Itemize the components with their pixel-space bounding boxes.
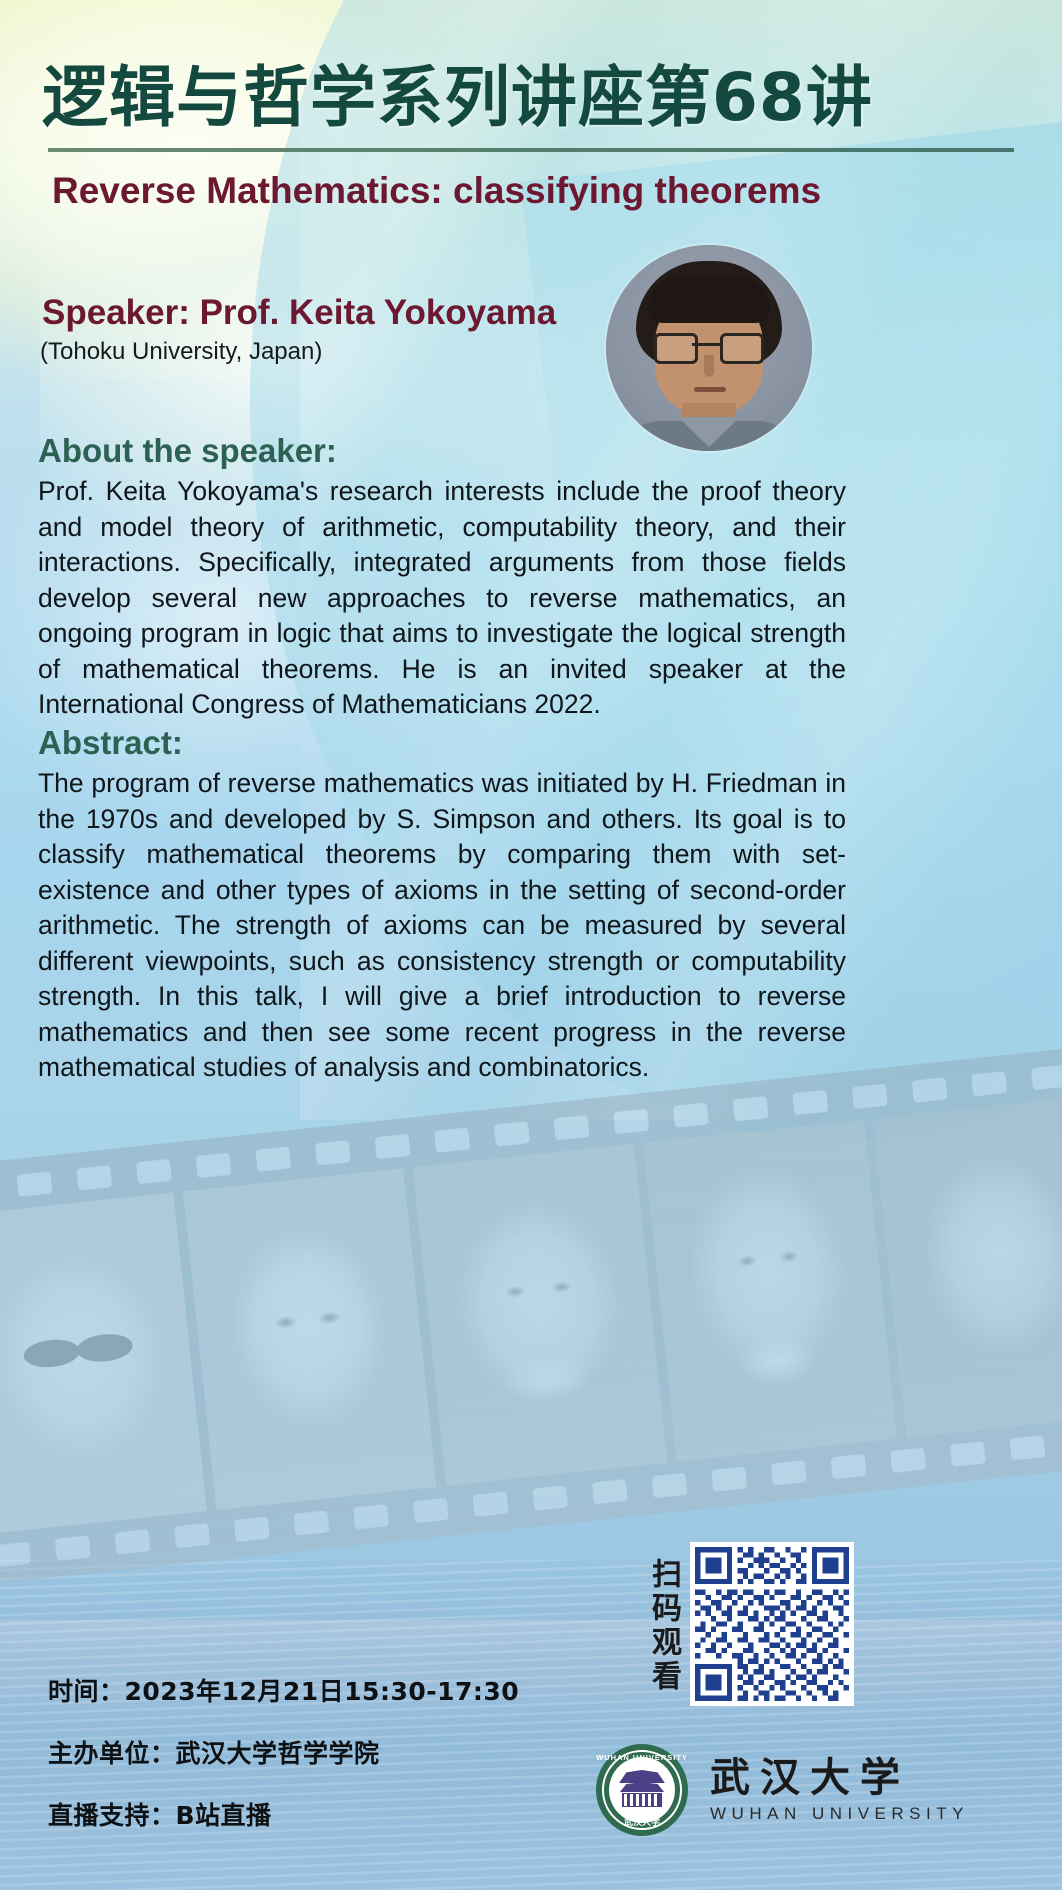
abstract-heading: Abstract: <box>38 724 183 762</box>
scan-to-watch-label: 扫码观看 <box>645 1558 681 1694</box>
wordmark-english: WUHAN UNIVERSITY <box>710 1804 969 1824</box>
lecture-subtitle: Reverse Mathematics: classifying theorem… <box>52 170 1032 212</box>
university-wordmark: 武汉大学 WUHAN UNIVERSITY <box>710 1756 969 1824</box>
speaker-portrait <box>606 245 812 451</box>
event-streaming: 直播支持：B站直播 <box>48 1796 519 1832</box>
wuhan-university-seal-icon: WUHAN UNIVERSITY 武汉大学 <box>596 1744 688 1836</box>
university-logo: WUHAN UNIVERSITY 武汉大学 武汉大学 WUHAN UNIVERS… <box>596 1738 1016 1842</box>
page-title: 逻辑与哲学系列讲座第68讲 <box>42 44 1022 140</box>
poster-content: 逻辑与哲学系列讲座第68讲 Reverse Mathematics: class… <box>0 0 1062 1890</box>
event-info: 时间：2023年12月21日15:30-17:30 主办单位：武汉大学哲学学院 … <box>48 1672 519 1858</box>
about-body: Prof. Keita Yokoyama's research interest… <box>38 474 846 723</box>
event-time: 时间：2023年12月21日15:30-17:30 <box>48 1672 519 1708</box>
seal-top-text: WUHAN UNIVERSITY <box>596 1753 688 1762</box>
wordmark-chinese: 武汉大学 <box>710 1756 969 1800</box>
seal-bottom-text: 武汉大学 <box>596 1815 688 1828</box>
speaker-name: Speaker: Prof. Keita Yokoyama <box>42 293 556 333</box>
abstract-body: The program of reverse mathematics was i… <box>38 766 846 1086</box>
qr-code-svg <box>695 1547 849 1701</box>
title-divider <box>48 148 1014 152</box>
speaker-affiliation: (Tohoku University, Japan) <box>40 338 322 366</box>
event-organizer: 主办单位：武汉大学哲学学院 <box>48 1734 519 1770</box>
lecture-poster: 逻辑与哲学系列讲座第68讲 Reverse Mathematics: class… <box>0 0 1062 1890</box>
qr-code-icon[interactable] <box>690 1542 854 1706</box>
about-heading: About the speaker: <box>38 432 337 470</box>
